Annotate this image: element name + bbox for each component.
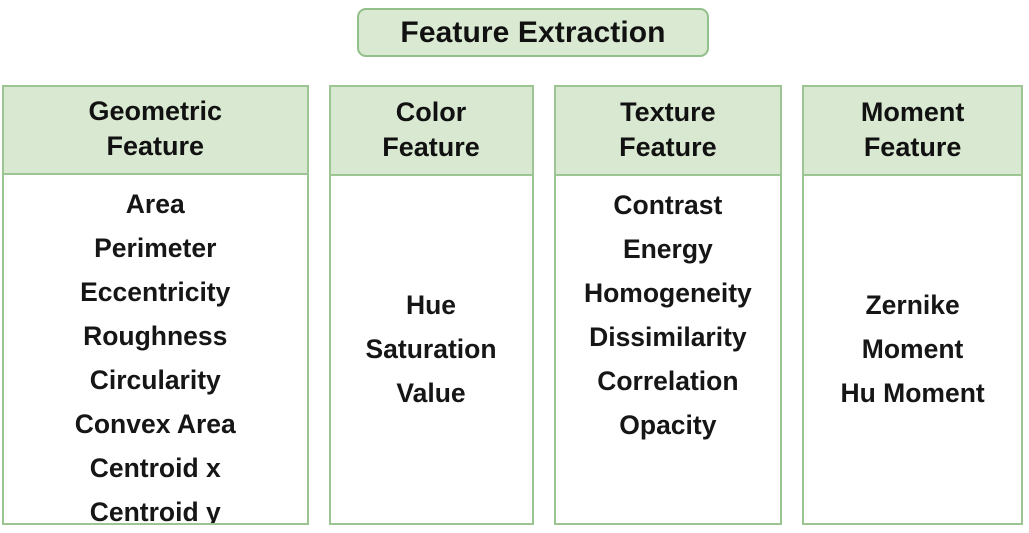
- column-body-color-feature: Hue Saturation Value: [331, 176, 532, 523]
- feature-item: Saturation: [366, 328, 497, 372]
- column-header-line: Feature: [382, 130, 480, 165]
- column-body-geometric-feature: Area Perimeter Eccentricity Roughness Ci…: [4, 175, 307, 523]
- column-header-geometric-feature: Geometric Feature: [4, 87, 307, 175]
- feature-item: Centroid x: [90, 447, 221, 491]
- column-body-texture-feature: Contrast Energy Homogeneity Dissimilarit…: [556, 176, 781, 523]
- column-color-feature: Color Feature Hue Saturation Value: [329, 85, 534, 525]
- feature-item: Homogeneity: [584, 272, 752, 316]
- feature-item: Opacity: [619, 404, 716, 448]
- column-geometric-feature: Geometric Feature Area Perimeter Eccentr…: [2, 85, 309, 525]
- feature-item: Value: [396, 372, 465, 416]
- page-title: Feature Extraction: [400, 18, 665, 48]
- column-header-texture-feature: Texture Feature: [556, 87, 781, 176]
- feature-item: Dissimilarity: [589, 316, 747, 360]
- feature-item: Hue: [406, 284, 456, 328]
- column-header-line: Feature: [106, 129, 204, 164]
- feature-columns-row: Geometric Feature Area Perimeter Eccentr…: [2, 85, 1023, 525]
- feature-item: Zernike: [865, 284, 959, 328]
- column-body-moment-feature: Zernike Moment Hu Moment: [804, 176, 1021, 523]
- column-header-line: Feature: [619, 130, 717, 165]
- feature-item: Energy: [623, 228, 713, 272]
- feature-item: Centroid y: [90, 491, 221, 523]
- column-header-line: Feature: [864, 130, 962, 165]
- column-header-color-feature: Color Feature: [331, 87, 532, 176]
- column-header-line: Texture: [620, 95, 716, 130]
- feature-item: Hu Moment: [840, 372, 984, 416]
- title-banner: Feature Extraction: [357, 8, 709, 57]
- column-header-moment-feature: Moment Feature: [804, 87, 1021, 176]
- feature-item: Area: [126, 183, 185, 227]
- column-texture-feature: Texture Feature Contrast Energy Homogene…: [554, 85, 783, 525]
- column-header-line: Color: [396, 95, 467, 130]
- feature-item: Moment: [862, 328, 964, 372]
- feature-item: Convex Area: [75, 403, 236, 447]
- feature-item: Contrast: [613, 184, 722, 228]
- feature-item: Roughness: [83, 315, 227, 359]
- feature-item: Eccentricity: [80, 271, 230, 315]
- feature-item: Perimeter: [94, 227, 216, 271]
- feature-item: Circularity: [90, 359, 221, 403]
- feature-item: Correlation: [597, 360, 738, 404]
- column-header-line: Moment: [861, 95, 965, 130]
- column-moment-feature: Moment Feature Zernike Moment Hu Moment: [802, 85, 1023, 525]
- column-header-line: Geometric: [88, 94, 222, 129]
- feature-extraction-diagram: Feature Extraction Geometric Feature Are…: [0, 0, 1029, 533]
